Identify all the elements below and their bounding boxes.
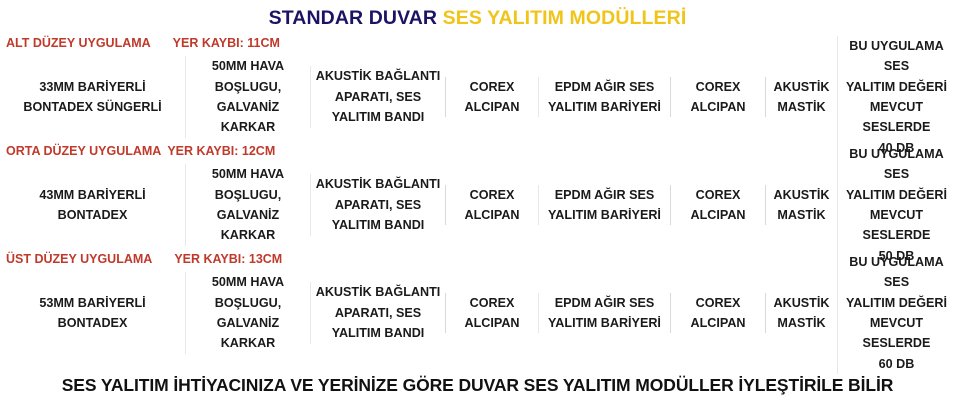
cell-hava-boslugu: 50MM HAVA BOŞLUGU, GALVANİZ KARKAR — [185, 164, 310, 246]
module-header-ust: ÜST DÜZEY UYGULAMAYER KAYBI: 13CM — [0, 248, 955, 270]
module-block-alt: ALT DÜZEY UYGULAMAYER KAYBI: 11CM 33MM B… — [0, 32, 955, 140]
cell-akustik-mastik: AKUSTİK MASTİK — [765, 185, 837, 226]
cell-akustik-baglanti: AKUSTİK BAĞLANTI APARATI, SES YALITIM BA… — [310, 282, 445, 343]
footer-note: SES YALITIM İHTİYACINIZA VE YERİNİZE GÖR… — [0, 375, 955, 396]
page-title: STANDAR DUVAR SES YALITIM MODÜLLERİ — [0, 0, 955, 32]
table-row: 43MM BARİYERLİ BONTADEX 50MM HAVA BOŞLUG… — [0, 162, 955, 248]
table-row: 53MM BARİYERLİ BONTADEX 50MM HAVA BOŞLUG… — [0, 270, 955, 356]
page-title-accent: SES YALITIM MODÜLLERİ — [443, 7, 687, 29]
cell-akustik-mastik: AKUSTİK MASTİK — [765, 293, 837, 334]
cell-corex-alcipan-2: COREX ALCIPAN — [670, 185, 765, 226]
level-label-ust: ÜST DÜZEY UYGULAMA — [0, 248, 152, 270]
cell-yalitim-degeri: BU UYGULAMA SES YALITIM DEĞERİ MEVCUT SE… — [837, 144, 955, 266]
cell-akustik-baglanti: AKUSTİK BAĞLANTI APARATI, SES YALITIM BA… — [310, 66, 445, 127]
cell-epdm-bariyer: EPDM AĞIR SES YALITIM BARİYERİ — [538, 185, 670, 226]
cell-bariyer: 33MM BARİYERLİ BONTADEX SÜNGERLİ — [0, 77, 185, 118]
cell-corex-alcipan-1: COREX ALCIPAN — [445, 77, 538, 118]
loss-label-orta: YER KAYBI: 12CM — [167, 140, 275, 162]
loss-label-ust: YER KAYBI: 13CM — [174, 248, 282, 270]
module-header-alt: ALT DÜZEY UYGULAMAYER KAYBI: 11CM — [0, 32, 955, 54]
cell-corex-alcipan-1: COREX ALCIPAN — [445, 185, 538, 226]
cell-epdm-bariyer: EPDM AĞIR SES YALITIM BARİYERİ — [538, 293, 670, 334]
cell-corex-alcipan-2: COREX ALCIPAN — [670, 77, 765, 118]
module-block-ust: ÜST DÜZEY UYGULAMAYER KAYBI: 13CM 53MM B… — [0, 248, 955, 356]
cell-akustik-mastik: AKUSTİK MASTİK — [765, 77, 837, 118]
module-block-orta: ORTA DÜZEY UYGULAMAYER KAYBI: 12CM 43MM … — [0, 140, 955, 248]
cell-hava-boslugu: 50MM HAVA BOŞLUGU, GALVANİZ KARKAR — [185, 56, 310, 138]
module-header-orta: ORTA DÜZEY UYGULAMAYER KAYBI: 12CM — [0, 140, 955, 162]
table-row: 33MM BARİYERLİ BONTADEX SÜNGERLİ 50MM HA… — [0, 54, 955, 140]
cell-akustik-baglanti: AKUSTİK BAĞLANTI APARATI, SES YALITIM BA… — [310, 174, 445, 235]
page-title-main: STANDAR DUVAR — [269, 7, 443, 29]
cell-hava-boslugu: 50MM HAVA BOŞLUGU, GALVANİZ KARKAR — [185, 272, 310, 354]
cell-yalitim-degeri: BU UYGULAMA SES YALITIM DEĞERİ MEVCUT SE… — [837, 252, 955, 374]
cell-bariyer: 53MM BARİYERLİ BONTADEX — [0, 293, 185, 334]
level-label-orta: ORTA DÜZEY UYGULAMA — [0, 140, 161, 162]
cell-corex-alcipan-1: COREX ALCIPAN — [445, 293, 538, 334]
cell-yalitim-degeri: BU UYGULAMA SES YALITIM DEĞERİ MEVCUT SE… — [837, 36, 955, 158]
cell-bariyer: 43MM BARİYERLİ BONTADEX — [0, 185, 185, 226]
cell-corex-alcipan-2: COREX ALCIPAN — [670, 293, 765, 334]
level-label-alt: ALT DÜZEY UYGULAMA — [0, 32, 151, 54]
cell-epdm-bariyer: EPDM AĞIR SES YALITIM BARİYERİ — [538, 77, 670, 118]
loss-label-alt: YER KAYBI: 11CM — [173, 32, 280, 54]
